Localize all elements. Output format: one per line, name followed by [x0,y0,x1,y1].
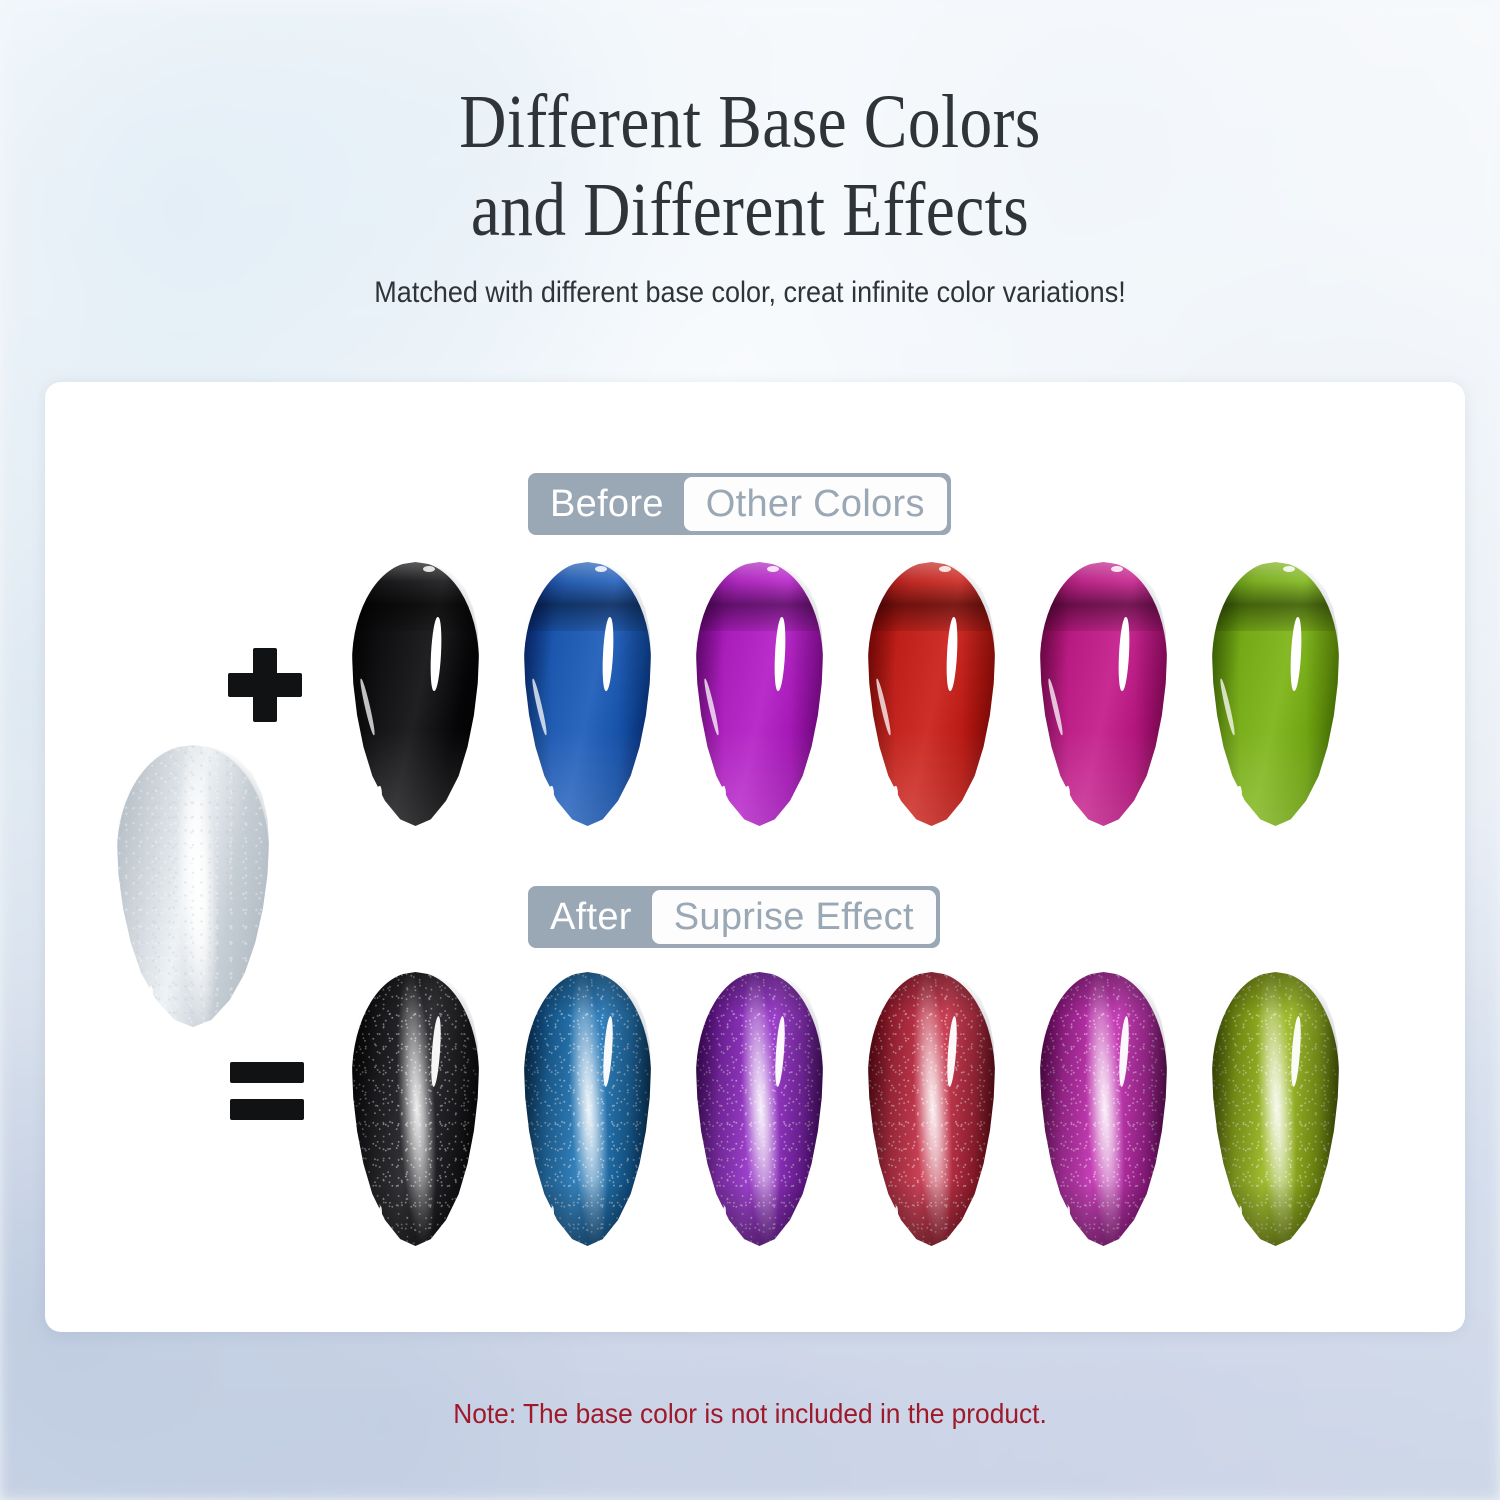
nail-gloss-overlay [1212,689,1339,826]
equals-operator-icon [230,1062,304,1120]
nail-gloss-overlay [1040,689,1167,826]
header: Different Base Colors and Different Effe… [0,78,1500,310]
nail-highlight [595,566,606,572]
nail-shading-overlay [1040,972,1167,1246]
before-tag: Before [528,473,684,535]
nail-body [1212,972,1339,1246]
nail-highlight [377,786,381,804]
after-caption: Suprise Effect [652,890,936,944]
nail-swatch-after-3 [868,972,995,1246]
nail-swatch-before-3 [868,562,995,826]
before-section-label: Before Other Colors [528,473,951,535]
nail-swatch-before-0 [352,562,479,826]
nail-body [352,972,479,1246]
nail-gloss-overlay [696,562,823,631]
page-subtitle: Matched with different base color, creat… [75,276,1425,310]
nail-swatch-after-4 [1040,972,1167,1246]
nail-swatch-before-4 [1040,562,1167,826]
before-caption: Other Colors [684,477,947,531]
nail-highlight [1111,566,1122,572]
nail-highlight [767,566,778,572]
page-title-line-2: and Different Effects [105,166,1395,254]
nail-highlight [1283,566,1294,572]
nail-swatch-before-1 [524,562,651,826]
nail-shading-overlay [1212,972,1339,1246]
equals-top-bar [230,1062,304,1083]
after-tag: After [528,886,652,948]
nail-shading-overlay [868,972,995,1246]
nail-shading-overlay [524,972,651,1246]
nail-gloss-overlay [696,689,823,826]
nail-swatch-after-1 [524,972,651,1246]
nail-highlight [893,786,897,804]
nail-body [1040,972,1167,1246]
nail-shading-overlay [696,972,823,1246]
nail-swatch-after-0 [352,972,479,1246]
nail-body [1212,562,1339,826]
nail-highlight [939,566,950,572]
nail-swatch-before-5 [1212,562,1339,826]
nail-glitter-texture [117,745,269,1027]
nail-body [524,562,651,826]
nail-gloss-overlay [524,689,651,826]
nail-body [868,972,995,1246]
nail-swatch-after-2 [696,972,823,1246]
nail-body [117,745,269,1027]
nail-shading-overlay [352,972,479,1246]
nail-body [1040,562,1167,826]
nail-swatch-base-silver [117,745,269,1027]
nail-swatch-after-5 [1212,972,1339,1246]
nail-body [524,972,651,1246]
nail-gloss-overlay [524,562,651,631]
nail-highlight [1237,786,1241,804]
nail-gloss-overlay [1040,562,1167,631]
after-section-label: After Suprise Effect [528,886,940,948]
nail-swatch-before-2 [696,562,823,826]
nail-gloss-overlay [352,689,479,826]
nail-body [868,562,995,826]
nail-gloss-overlay [868,562,995,631]
plus-vertical-bar [253,648,277,722]
nail-body [352,562,479,826]
page-title-line-1: Different Base Colors [105,78,1395,166]
nail-body [696,972,823,1246]
plus-operator-icon [228,648,302,722]
nail-highlight [549,786,553,804]
nail-gloss-overlay [352,562,479,631]
equals-bottom-bar [230,1099,304,1120]
nail-highlight [721,786,725,804]
nail-highlight [423,566,434,572]
product-note: Note: The base color is not included in … [45,1398,1455,1430]
nail-gloss-overlay [868,689,995,826]
nail-highlight [1065,786,1069,804]
nail-gloss-overlay [1212,562,1339,631]
nail-body [696,562,823,826]
